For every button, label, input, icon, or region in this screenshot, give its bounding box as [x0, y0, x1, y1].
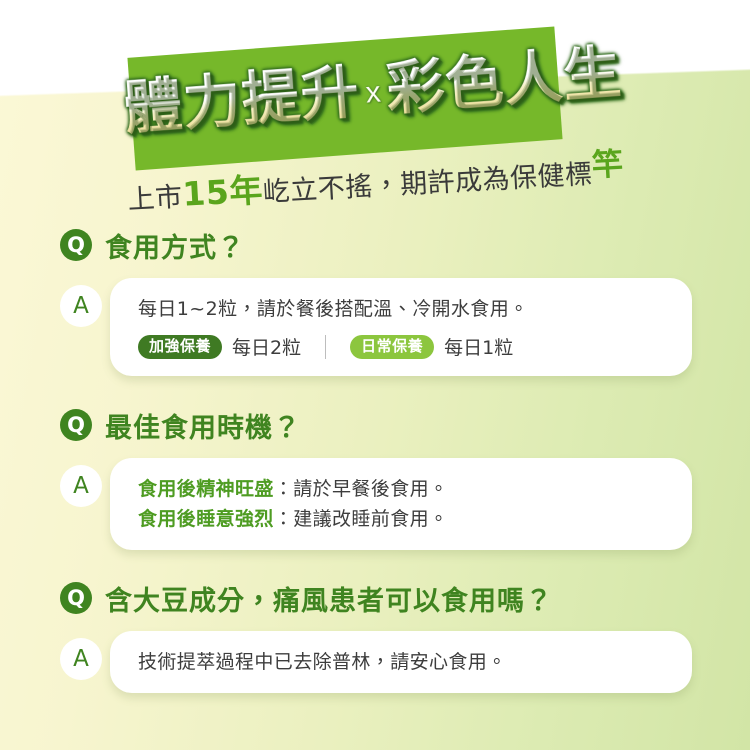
answer-row-1: A 每日1~2粒，請於餐後搭配溫、冷開水食用。 加強保養 每日2粒 日常保養 每…	[0, 278, 750, 376]
answer-text: ：請於早餐後食用。	[274, 478, 449, 500]
faq-item-3: Q 含大豆成分，痛風患者可以食用嗎？ A 技術提萃過程中已去除普林，請安心食用。	[0, 575, 750, 693]
answer-row-3: A 技術提萃過程中已去除普林，請安心食用。	[0, 631, 750, 693]
question-text-1: 食用方式？	[105, 226, 245, 265]
answer-text: 每日1~2粒，請於餐後搭配溫、冷開水食用。	[138, 298, 529, 320]
question-badge-icon: Q	[60, 582, 92, 614]
answer-card-2: 食用後精神旺盛：請於早餐後食用。 食用後睡意強烈：建議改睡前食用。	[110, 458, 692, 550]
answer-card-1: 每日1~2粒，請於餐後搭配溫、冷開水食用。 加強保養 每日2粒 日常保養 每日1…	[110, 278, 692, 376]
answer-text: 技術提萃過程中已去除普林，請安心食用。	[138, 651, 507, 673]
subtitle-highlight-years: 15年	[181, 170, 263, 213]
faq-item-2: Q 最佳食用時機？ A 食用後精神旺盛：請於早餐後食用。 食用後睡意強烈：建議改…	[0, 402, 750, 550]
question-row-3[interactable]: Q 含大豆成分，痛風患者可以食用嗎？	[0, 575, 750, 621]
dosage-text-daily: 每日1粒	[444, 333, 513, 360]
dosage-row: 加強保養 每日2粒 日常保養 每日1粒	[138, 333, 670, 360]
answer-line: 每日1~2粒，請於餐後搭配溫、冷開水食用。	[138, 294, 670, 324]
answer-lead: 食用後精神旺盛	[138, 478, 274, 500]
answer-line: 技術提萃過程中已去除普林，請安心食用。	[138, 647, 670, 677]
section-spacer	[0, 376, 750, 402]
answer-row-2: A 食用後精神旺盛：請於早餐後食用。 食用後睡意強烈：建議改睡前食用。	[0, 458, 750, 550]
answer-line: 食用後精神旺盛：請於早餐後食用。	[138, 474, 670, 504]
headline-cross-symbol: x	[358, 75, 387, 111]
answer-text: ：建議改睡前食用。	[274, 508, 449, 530]
dosage-pill-intensive: 加強保養	[138, 335, 222, 359]
faq-infographic: 體力提升x彩色人生 上市15年屹立不搖，期許成為保健標竿 Q 食用方式？ A 每…	[0, 0, 750, 750]
question-text-2: 最佳食用時機？	[105, 406, 301, 445]
answer-badge-icon: A	[60, 285, 102, 327]
answer-card-3: 技術提萃過程中已去除普林，請安心食用。	[110, 631, 692, 693]
answer-badge-icon: A	[60, 465, 102, 507]
question-row-2[interactable]: Q 最佳食用時機？	[0, 402, 750, 448]
header: 體力提升x彩色人生 上市15年屹立不搖，期許成為保健標竿	[0, 0, 750, 215]
question-row-1[interactable]: Q 食用方式？	[0, 222, 750, 268]
question-badge-icon: Q	[60, 409, 92, 441]
headline-part-2: 彩色人生	[384, 40, 624, 121]
answer-line: 食用後睡意強烈：建議改睡前食用。	[138, 504, 670, 534]
answer-badge-icon: A	[60, 638, 102, 680]
subtitle-prefix: 上市	[127, 182, 184, 216]
dosage-pill-daily: 日常保養	[350, 335, 434, 359]
question-text-3: 含大豆成分，痛風患者可以食用嗎？	[105, 579, 553, 618]
subtitle-highlight-last: 竿	[591, 138, 625, 185]
faq-list: Q 食用方式？ A 每日1~2粒，請於餐後搭配溫、冷開水食用。 加強保養 每日2…	[0, 222, 750, 693]
subtitle-middle: 屹立不搖，期許成為保健標	[262, 159, 593, 208]
dosage-divider	[325, 335, 326, 359]
answer-lead: 食用後睡意強烈	[138, 508, 274, 530]
section-spacer	[0, 550, 750, 575]
faq-item-1: Q 食用方式？ A 每日1~2粒，請於餐後搭配溫、冷開水食用。 加強保養 每日2…	[0, 222, 750, 376]
question-badge-icon: Q	[60, 229, 92, 261]
dosage-text-intensive: 每日2粒	[232, 333, 301, 360]
